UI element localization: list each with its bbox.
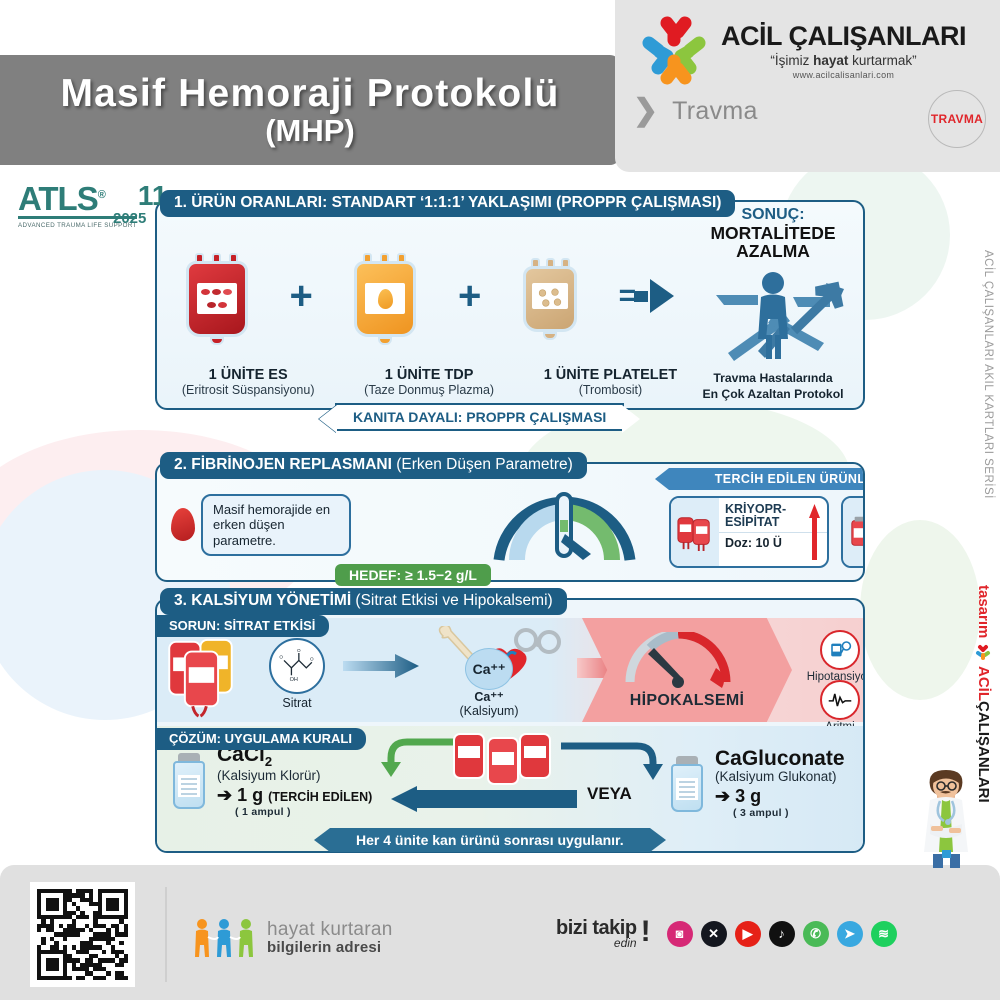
fibrinogen-note: Masif hemorajide en erken düşen parametr… [171,494,351,556]
product-card-cryoprecipitate: KRİYOPR-ESİPİTAT Doz: 10 Ü [669,496,829,568]
blood-product-row: + + [165,226,695,366]
solution-label: ÇÖZÜM: UYGULAMA KURALI [157,728,366,750]
footer: hayat kurtaran bilgilerin adresi bizi ta… [0,865,1000,1000]
plus-sign-2: + [458,282,481,310]
brand-slogan: “İşimiz hayat kurtarmak” [721,53,966,68]
acil-calisanlari-logo-icon [637,10,711,90]
follow-text: bizi takip edin ! [556,917,637,950]
drug-subtitle: (Kalsiyum Klorür) [217,768,372,783]
section1-panel: + + [155,200,865,410]
drug-cagluconate: CaGluconate (Kalsiyum Glukonat) ➔ 3 g ( … [667,748,845,819]
chevron-right-icon: ❯ [633,96,658,126]
background-blob-green-2 [860,520,980,700]
instagram-icon[interactable]: ◙ [667,921,693,947]
result-block: SONUÇ: MORTALİTEDE AZALMA Travma Hastala… [689,206,857,404]
arrow-curve-blue-icon [557,738,677,782]
gauge-target-icon [487,486,642,564]
result-title-line2: AZALMA [689,242,857,260]
svg-text:OH: OH [290,677,298,683]
vial-icon [667,756,707,812]
spotify-icon[interactable]: ≋ [871,921,897,947]
svg-text:O: O [310,656,314,661]
tagline-line1: hayat kurtaran [267,920,393,940]
page-title: Masif Hemoraji Protokolü [60,72,559,116]
drug-cacl2: CaCl2 (Kalsiyum Klorür) ➔ 1 g (TERCİH ED… [169,744,372,818]
doctor-illustration [900,762,992,872]
cacl2-text: CaCl2 (Kalsiyum Klorür) ➔ 1 g (TERCİH ED… [217,744,372,818]
cagluconate-text: CaGluconate (Kalsiyum Glukonat) ➔ 3 g ( … [715,748,845,819]
blood-bag-platelet-icon [523,258,577,334]
citrate-molecule-icon: OH OOO [269,638,325,694]
arrow-left-blue-icon [387,786,577,812]
tiktok-icon[interactable]: ♪ [769,921,795,947]
section1-heading: 1. ÜRÜN ORANLARI: STANDART ‘1:1:1’ YAKLA… [160,190,735,217]
cryoprecipitate-bags-icon [671,498,719,566]
whatsapp-icon[interactable]: ✆ [803,921,829,947]
arrow-right-icon [650,279,674,313]
svg-text:O: O [297,648,301,653]
vial-icon [169,753,209,809]
blood-bags-group-icon [167,634,275,718]
hayat-kurtaran-logo: hayat kurtaran bilgilerin adresi [192,917,393,959]
problem-label: SORUN: SİTRAT ETKİSİ [157,615,329,637]
tagline-line2: bilgilerin adresi [267,939,393,956]
people-holding-hands-icon [192,917,258,959]
brand-name: ACİL ÇALIŞANLARI [721,21,966,52]
product-label-es: 1 ÜNİTE ES (Eritrosit Süspansiyonu) [182,367,315,397]
arrow-right-gradient-icon [343,654,419,678]
drug-subtitle: (Kalsiyum Glukonat) [715,769,845,784]
blood-drop-icon [171,508,195,541]
calcium-caption: Ca⁺⁺ (Kalsiyum) [429,690,549,718]
blood-pressure-monitor-icon [820,630,860,670]
exclamation-mark: ! [641,915,651,949]
low-gauge-icon [620,632,736,688]
social-icons[interactable]: ◙✕▶♪✆➤≋ [667,921,897,947]
patient-recovery-arrow-icon [689,261,857,369]
vial-syringe-icon [843,498,865,566]
section3-panel: OH OOO Sitrat [155,598,865,853]
drug-dose: ➔ 3 g [715,786,845,807]
drug-ampul: ( 3 ampul ) [733,807,845,819]
svg-text:O: O [279,655,283,660]
atls-logo: ATLS® ADVANCED TRAUMA LIFE SUPPORT 11 20… [18,182,167,229]
up-arrow-icon [808,502,821,562]
blood-product-labels: 1 ÜNİTE ES (Eritrosit Süspansiyonu) 1 ÜN… [157,367,702,397]
or-label: VEYA [587,784,632,804]
footer-divider [165,887,167,982]
acil-calisanlari-mini-logo-icon [976,644,992,660]
section3-heading: 3. KALSİYUM YÖNETİMİ (Sitrat Etkisi ve H… [160,588,567,615]
follow-us-block: bizi takip edin ! ◙✕▶♪✆➤≋ [556,917,897,950]
equals-sign: = [619,279,635,313]
atls-year: 2025 [113,210,146,227]
section2-heading: 2. FİBRİNOJEN REPLASMANI (Erken Düşen Pa… [160,452,587,479]
fibrinogen-target-badge: HEDEF: ≥ 1.5−2 g/L [335,564,491,586]
plus-sign-1: + [289,282,312,310]
category-badge: TRAVMA [928,90,986,148]
page-title-bar: Masif Hemoraji Protokolü (MHP) [0,55,620,165]
equals-arrow-group: = [619,279,675,313]
calcium-bubble: Ca⁺⁺ [465,648,513,690]
citrate-label: Sitrat [269,696,325,710]
blood-bag-rbc-icon [186,253,248,339]
hypocalcemia-label: HİPOKALSEMİ [630,692,744,710]
preferred-products-bar: TERCİH EDİLEN ÜRÜNLER VE DOZLAR [669,468,865,490]
product-label-tdp: 1 ÜNİTE TDP (Taze Donmuş Plazma) [364,367,494,397]
hypocalcemia-chevron: HİPOKALSEMİ [582,618,792,722]
administration-band: Her 4 ünite kan ürünü sonrası uygulanır. [330,828,650,852]
section2-panel: Masif hemorajide en erken düşen parametr… [155,462,865,582]
brand-url: www.acilcalisanlari.com [721,70,966,80]
drug-name: CaGluconate [715,748,845,769]
x-twitter-icon[interactable]: ✕ [701,921,727,947]
brand-card: ACİL ÇALIŞANLARI “İşimiz hayat kurtarmak… [615,0,1000,172]
cryoprecipitate-body: KRİYOPR-ESİPİTAT Doz: 10 Ü [719,498,827,566]
drug-dose: ➔ 1 g (TERCİH EDİLEN) [217,785,372,806]
result-title-line1: MORTALİTEDE [689,224,857,242]
page-title-abbrev: (MHP) [265,113,355,149]
category-label: Travma [672,97,758,126]
brand-header: ACİL ÇALIŞANLARI “İşimiz hayat kurtarmak… [615,0,1000,90]
symptom-hypotension: Hipotansiyon [797,630,865,683]
blood-bag-plasma-icon [354,253,416,339]
brand-category-row: ❯ Travma TRAVMA [615,96,1000,126]
ecg-arrhythmia-icon [820,680,860,720]
evidence-ribbon: KANITA DAYALI: PROPPR ÇALIŞMASI [335,403,624,431]
product-card-fibrinogen-concentrate: FİBRİNOJEN KONSANTRESİ Doz: 2−4 g [841,496,865,568]
drug-ampul: ( 1 ampul ) [235,806,372,818]
qr-code-icon[interactable] [30,882,135,987]
brand-text-block: ACİL ÇALIŞANLARI “İşimiz hayat kurtarmak… [721,21,966,80]
hayat-kurtaran-text: hayat kurtaran bilgilerin adresi [267,920,393,957]
result-footer-line1: Travma Hastalarında [689,371,857,385]
product-label-platelet: 1 ÜNİTE PLATELET (Trombosit) [544,367,677,397]
telegram-icon[interactable]: ➤ [837,921,863,947]
result-footer-line2: En Çok Azaltan Protokol [689,387,857,401]
series-vertical-label: ACİL ÇALIŞANLARI AKIL KARTLARI SERİSİ [982,250,994,499]
fibrinogen-note-text: Masif hemorajide en erken düşen parametr… [201,494,351,556]
bone-heart-handcuffs-icon: Ca⁺⁺ Ca⁺⁺ (Kalsiyum) [429,626,579,718]
youtube-icon[interactable]: ▶ [735,921,761,947]
